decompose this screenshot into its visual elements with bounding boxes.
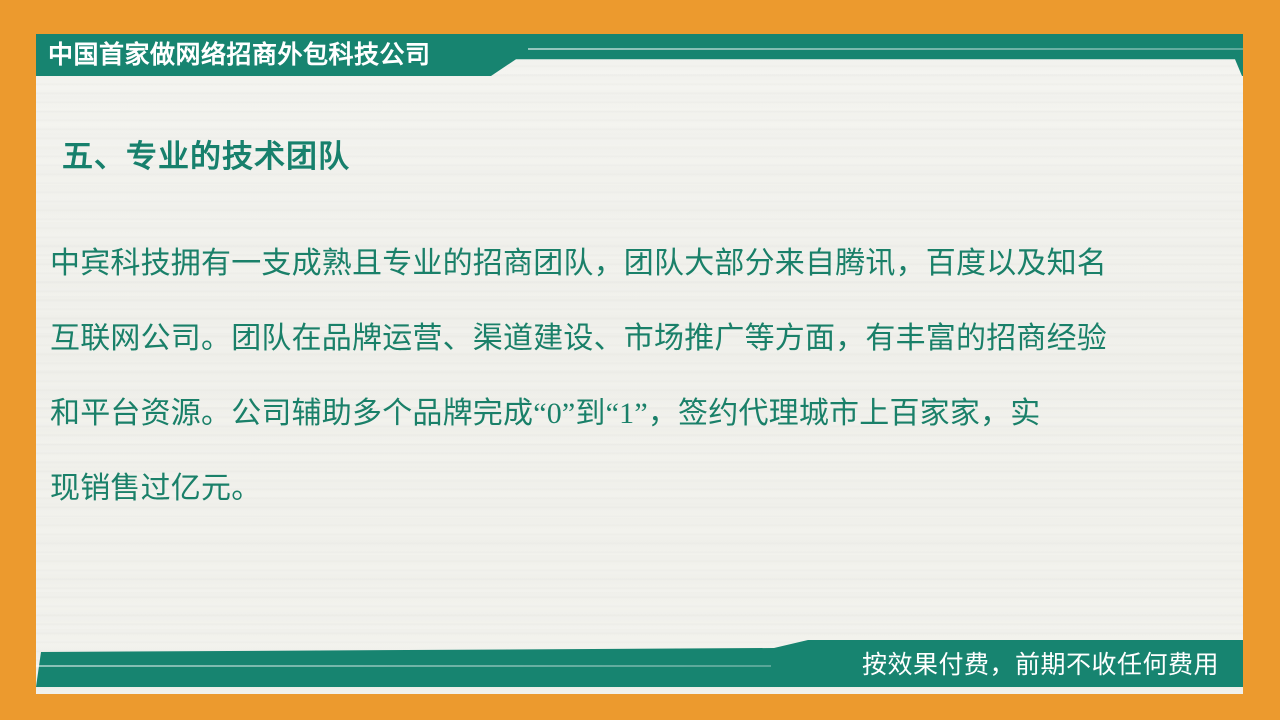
- frame-band-bottom: [0, 694, 1280, 720]
- body-paragraph-line: 中宾科技拥有一支成熟且专业的招商团队，团队大部分来自腾讯，百度以及知名: [50, 226, 1185, 301]
- header-divider-line: [528, 48, 1243, 50]
- header-title: 中国首家做网络招商外包科技公司: [48, 34, 431, 76]
- section-heading: 五、专业的技术团队: [62, 131, 350, 176]
- frame-band-top: [0, 0, 1280, 34]
- frame-band-right: [1243, 0, 1280, 720]
- footer-slogan: 按效果付费，前期不收任何费用: [862, 640, 1219, 687]
- frame-band-left: [0, 0, 36, 720]
- body-paragraph: 中宾科技拥有一支成熟且专业的招商团队，团队大部分来自腾讯，百度以及知名 互联网公…: [50, 226, 1185, 526]
- footer-divider-line: [36, 665, 771, 667]
- slide-canvas: 中国首家做网络招商外包科技公司 五、专业的技术团队 中宾科技拥有一支成熟且专业的…: [0, 0, 1280, 720]
- body-paragraph-line: 互联网公司。团队在品牌运营、渠道建设、市场推广等方面，有丰富的招商经验: [50, 301, 1185, 376]
- body-paragraph-line: 和平台资源。公司辅助多个品牌完成“0”到“1”，签约代理城市上百家家，实: [50, 376, 1185, 451]
- body-paragraph-line: 现销售过亿元。: [50, 451, 1185, 526]
- header-bar: 中国首家做网络招商外包科技公司: [36, 34, 1243, 76]
- footer-bar: 按效果付费，前期不收任何费用: [36, 640, 1243, 694]
